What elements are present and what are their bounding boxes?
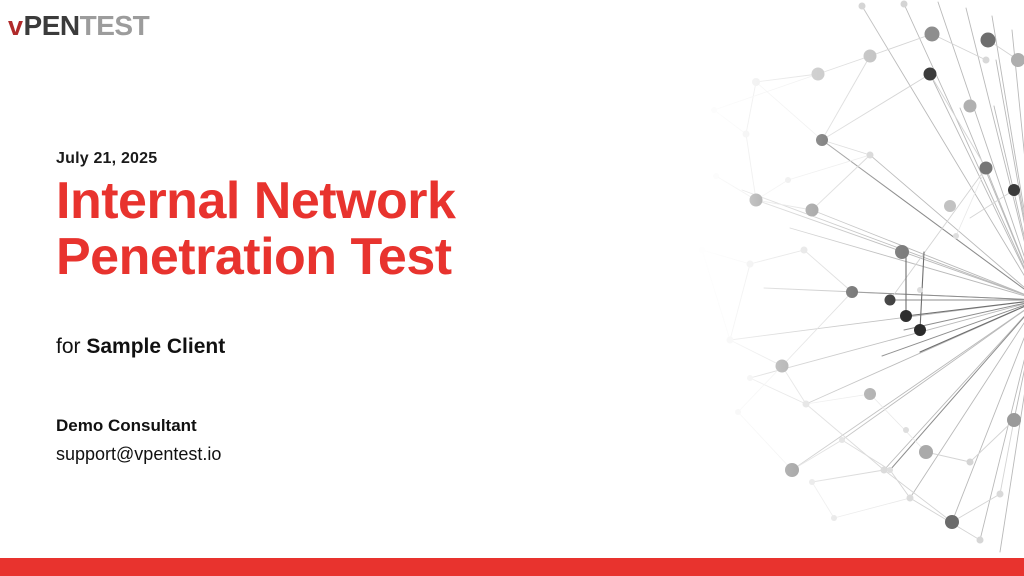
client-name: Sample Client [86,335,225,358]
page-title: Internal Network Penetration Test [56,174,576,285]
title-line-1: Internal Network [56,174,576,230]
logo-v-mark: v [8,13,24,40]
client-prefix: for [56,335,86,358]
report-date: July 21, 2025 [56,150,576,168]
consultant-name: Demo Consultant [56,415,576,438]
bottom-accent-bar [0,558,1024,576]
consultant-block: Demo Consultant support@vpentest.io [56,415,576,466]
logo-pen-text: PEN [24,12,80,40]
cover-text-block: July 21, 2025 Internal Network Penetrati… [56,150,576,466]
logo-test-text: TEST [80,12,150,40]
vpentest-logo: vPENTEST [8,10,149,42]
title-line-2: Penetration Test [56,230,576,286]
cover-slide: vPENTEST [0,0,1024,576]
network-graph-illustration [694,0,1024,558]
client-line: for Sample Client [56,334,576,359]
consultant-email[interactable]: support@vpentest.io [56,442,576,466]
